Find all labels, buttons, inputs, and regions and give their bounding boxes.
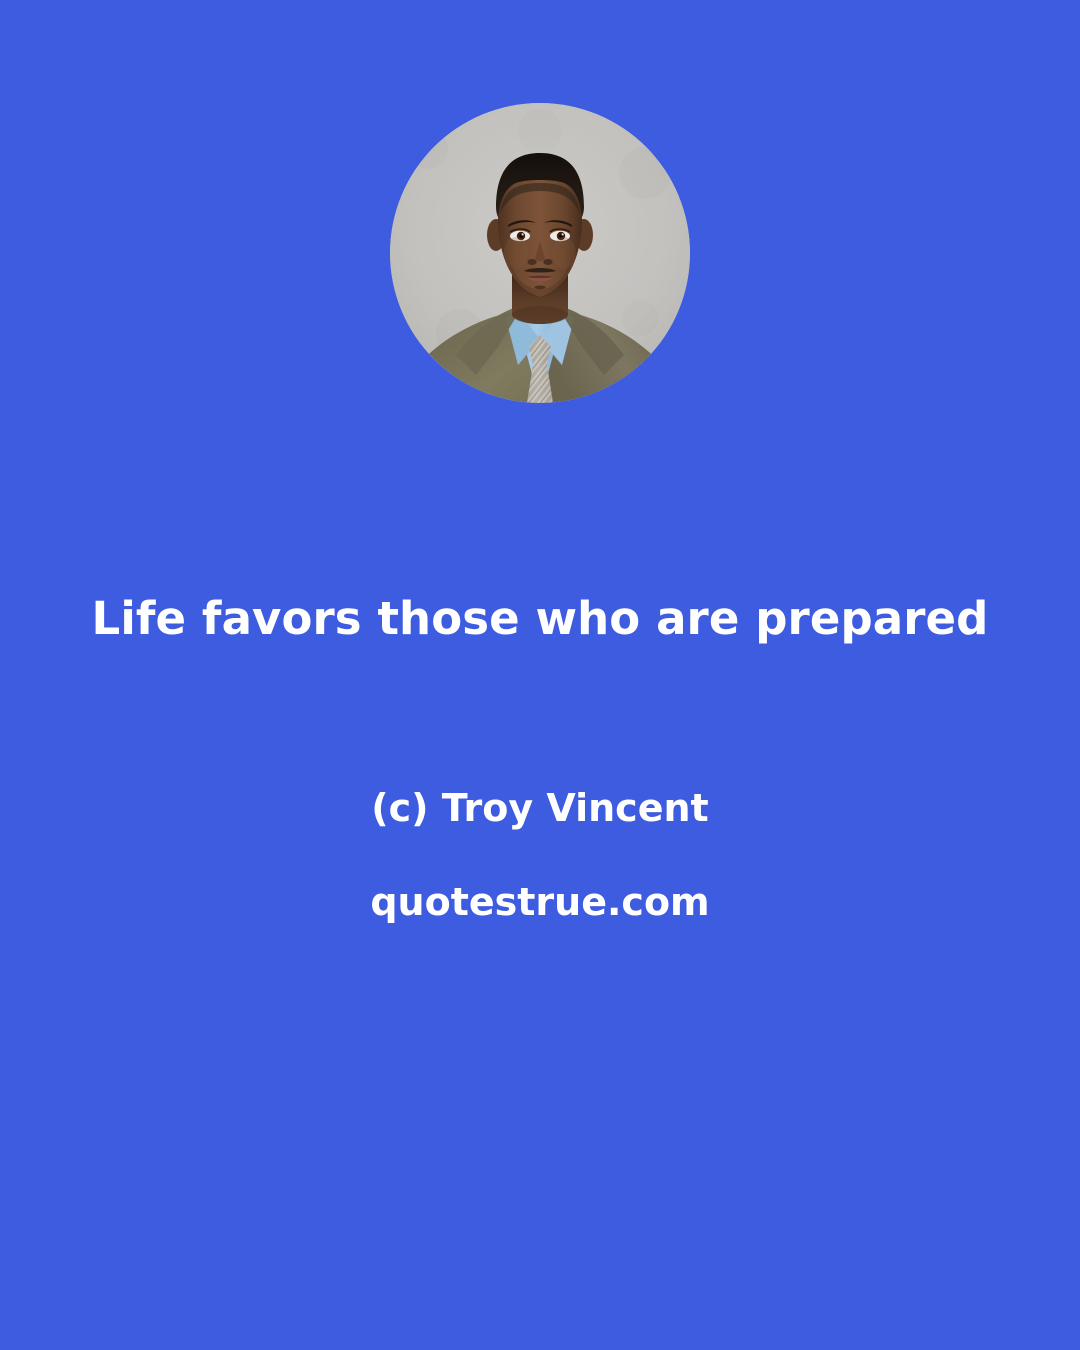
text-stack: Life favors those who are prepared (c) T… bbox=[0, 0, 1080, 1350]
quote-card: Life favors those who are prepared (c) T… bbox=[0, 0, 1080, 1350]
website-label: quotestrue.com bbox=[0, 880, 1080, 926]
quote-attribution: (c) Troy Vincent bbox=[0, 786, 1080, 832]
quote-text: Life favors those who are prepared bbox=[0, 592, 1080, 645]
